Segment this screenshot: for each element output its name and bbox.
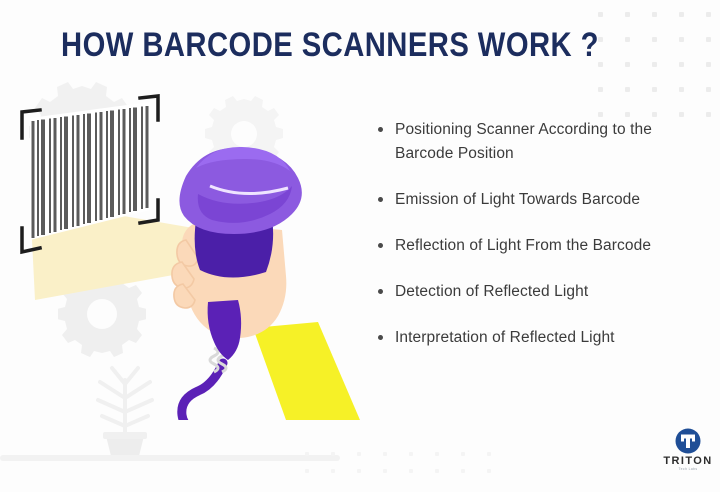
list-item: Interpretation of Reflected Light [378,326,698,350]
triton-trident-icon [675,428,701,454]
list-item: Emission of Light Towards Barcode [378,188,698,212]
brand-name: TRITON [662,455,714,467]
bullet-icon [378,335,383,340]
list-item-label: Detection of Reflected Light [395,280,588,304]
list-item: Reflection of Light From the Barcode [378,234,698,258]
brand-logo: TRITON Tech Labs [662,428,714,471]
barcode-scanner-illustration [0,90,390,420]
list-item-label: Positioning Scanner According to the Bar… [395,118,698,166]
list-item: Detection of Reflected Light [378,280,698,304]
page-title: HOW BARCODE SCANNERS WORK ? [46,26,614,65]
list-item-label: Emission of Light Towards Barcode [395,188,640,212]
infographic-canvas: HOW BARCODE SCANNERS WORK ? [0,0,720,492]
brand-tagline: Tech Labs [662,467,714,471]
bullet-icon [378,289,383,294]
list-item: Positioning Scanner According to the Bar… [378,118,698,166]
dot-grid-bottom [305,452,491,473]
bullet-icon [378,127,383,132]
list-item-label: Reflection of Light From the Barcode [395,234,651,258]
arm-sleeve [253,322,360,420]
scanner-handle [208,300,242,360]
dot-grid-top-right [598,12,711,117]
ground-line [0,455,340,461]
bullet-icon [378,197,383,202]
list-item-label: Interpretation of Reflected Light [395,326,615,350]
steps-list: Positioning Scanner According to the Bar… [378,118,698,350]
bullet-icon [378,243,383,248]
